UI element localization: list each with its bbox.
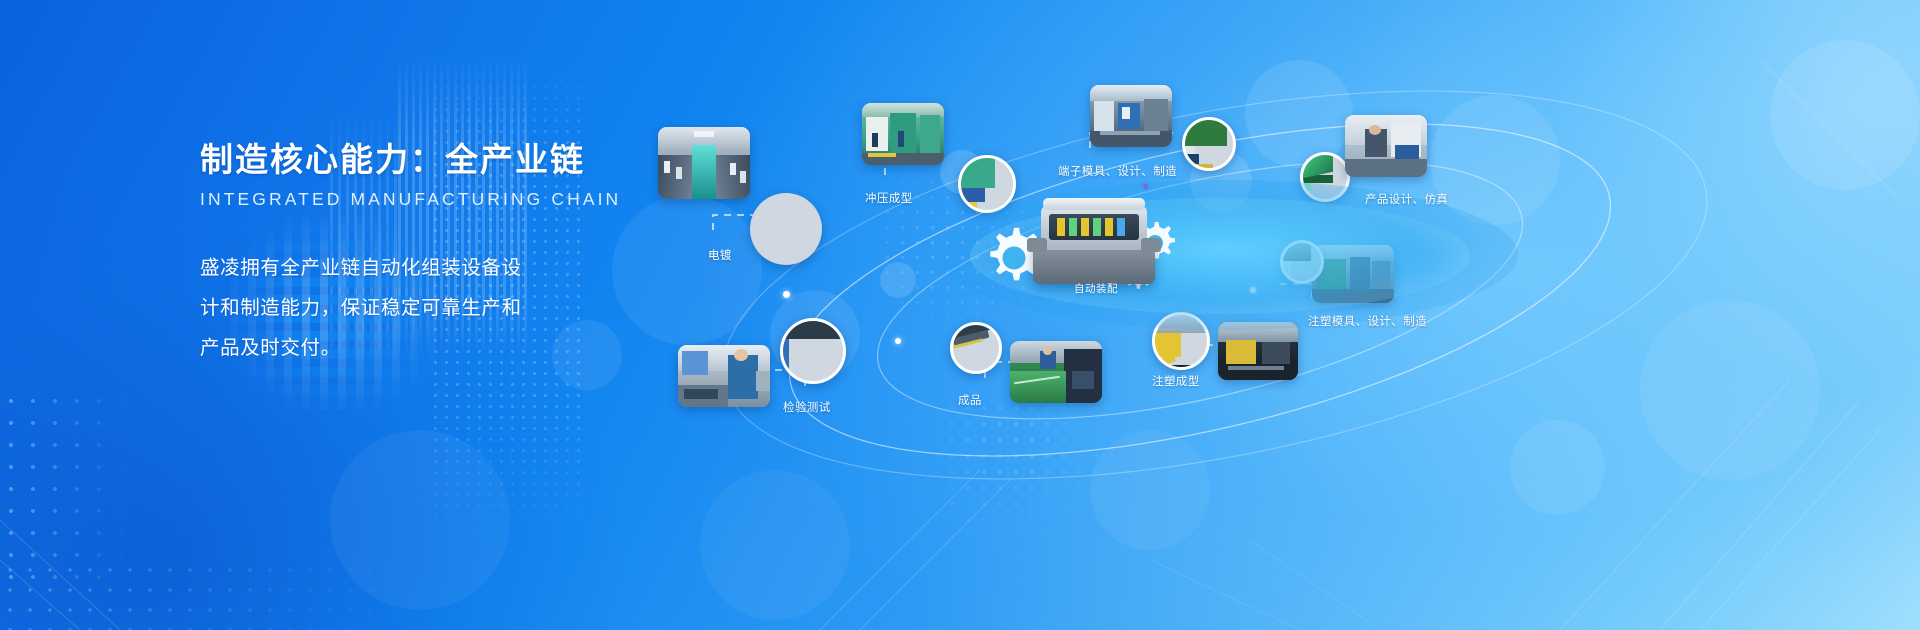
thumbnail-test-fixture <box>780 318 846 384</box>
label-stamping-forming: 冲压成型 <box>865 190 913 206</box>
banner-copy: 制造核心能力：全产业链 INTEGRATED MANUFACTURING CHA… <box>200 140 620 369</box>
label-inspection-testing: 检验测试 <box>783 399 831 415</box>
auto-assembly-machine <box>1027 190 1161 288</box>
thumbnail-pcb-assembly <box>1182 117 1236 171</box>
label-product-design-simulation: 产品设计、仿真 <box>1365 191 1448 207</box>
page-subtitle: INTEGRATED MANUFACTURING CHAIN <box>200 189 620 210</box>
thumbnail-gold-terminal-strip <box>750 193 822 265</box>
thumbnail-production-line <box>1010 341 1102 403</box>
label-injection-mold-design-manufacture: 注塑模具、设计、制造 <box>1308 313 1427 329</box>
page-title: 制造核心能力：全产业链 <box>200 140 620 180</box>
label-terminal-mold-design-manufacture: 端子模具、设计、制造 <box>1058 163 1177 179</box>
thumbnail-press-machine <box>958 155 1016 213</box>
label-finished-product: 成品 <box>958 392 982 408</box>
description-line-1: 盛凌拥有全产业链自动化组装设备设 <box>200 249 620 289</box>
description-line-3: 产品及时交付。 <box>200 329 620 369</box>
thumbnail-design-office <box>1345 115 1427 177</box>
thumbnail-terminal-mold <box>1090 85 1172 147</box>
thumbnail-finished-product <box>950 322 1002 374</box>
thumbnail-stamping <box>862 103 944 165</box>
banner-stage: 制造核心能力：全产业链 INTEGRATED MANUFACTURING CHA… <box>0 0 1920 630</box>
thumbnail-inspection-lab <box>678 345 770 407</box>
label-injection-forming: 注塑成型 <box>1152 373 1200 389</box>
description-line-2: 计和制造能力，保证稳定可靠生产和 <box>200 289 620 329</box>
label-electroplating: 电镀 <box>708 247 732 263</box>
thumbnail-electroplating <box>658 127 750 199</box>
banner-description: 盛凌拥有全产业链自动化组装设备设 计和制造能力，保证稳定可靠生产和 产品及时交付… <box>200 249 620 369</box>
thumbnail-injection-forming <box>1218 322 1298 380</box>
manufacturing-chain-diagram: 自动装配 电镀 冲压成型 端子模具、设计、制造 产品设计、仿真 注塑模具、设计、… <box>640 0 1920 630</box>
center-machine-label: 自动装配 <box>1074 281 1118 296</box>
